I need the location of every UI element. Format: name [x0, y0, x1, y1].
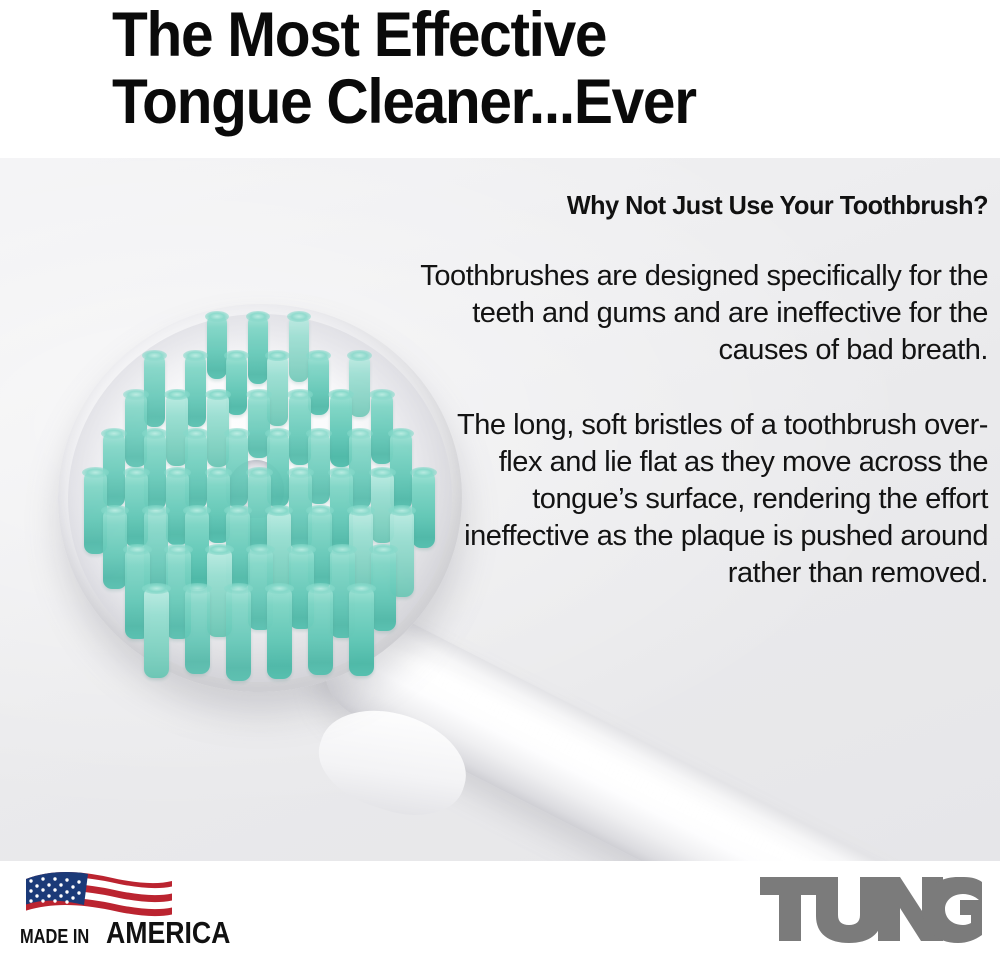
tung-brand-logo	[760, 873, 984, 945]
subheading: Why Not Just Use Your Toothbrush?	[437, 190, 988, 220]
headline: The Most Effective Tongue Cleaner...Ever	[112, 2, 930, 136]
bristle-tuft	[349, 588, 374, 676]
footer: MADE IN AMERICA	[0, 861, 1000, 961]
bristle-tuft	[185, 588, 210, 673]
bristle-tuft	[289, 316, 309, 382]
bristle-tuft	[308, 588, 333, 675]
made-in-america-text: MADE IN AMERICA	[20, 915, 251, 951]
bristle-tuft	[207, 316, 227, 379]
america-label: AMERICA	[106, 915, 230, 951]
main-panel: Why Not Just Use Your Toothbrush? Toothb…	[0, 158, 1000, 861]
body-paragraph-1: Toothbrushes are designed specifically f…	[420, 258, 988, 369]
bristle-field	[58, 298, 462, 686]
bristle-tuft	[349, 355, 370, 417]
bristle-tuft	[267, 355, 288, 426]
copy-column: Why Not Just Use Your Toothbrush? Toothb…	[420, 190, 988, 592]
headline-line-2: Tongue Cleaner...Ever	[112, 69, 930, 136]
bristle-tuft	[226, 588, 251, 680]
bristle-tuft	[267, 588, 292, 679]
headline-band: The Most Effective Tongue Cleaner...Ever	[0, 0, 1000, 158]
bristle-tuft	[308, 355, 329, 416]
body-paragraph-2: The long, soft bristles of a toothbrush …	[420, 407, 988, 592]
bristle-tuft	[226, 355, 247, 415]
bristle-tuft	[248, 316, 268, 384]
headline-line-1: The Most Effective	[112, 2, 930, 69]
bristle-tuft	[144, 588, 169, 678]
product-infographic: The Most Effective Tongue Cleaner...Ever…	[0, 0, 1000, 961]
made-in-label: MADE IN	[20, 926, 89, 949]
made-in-america-badge: MADE IN AMERICA	[12, 867, 242, 955]
